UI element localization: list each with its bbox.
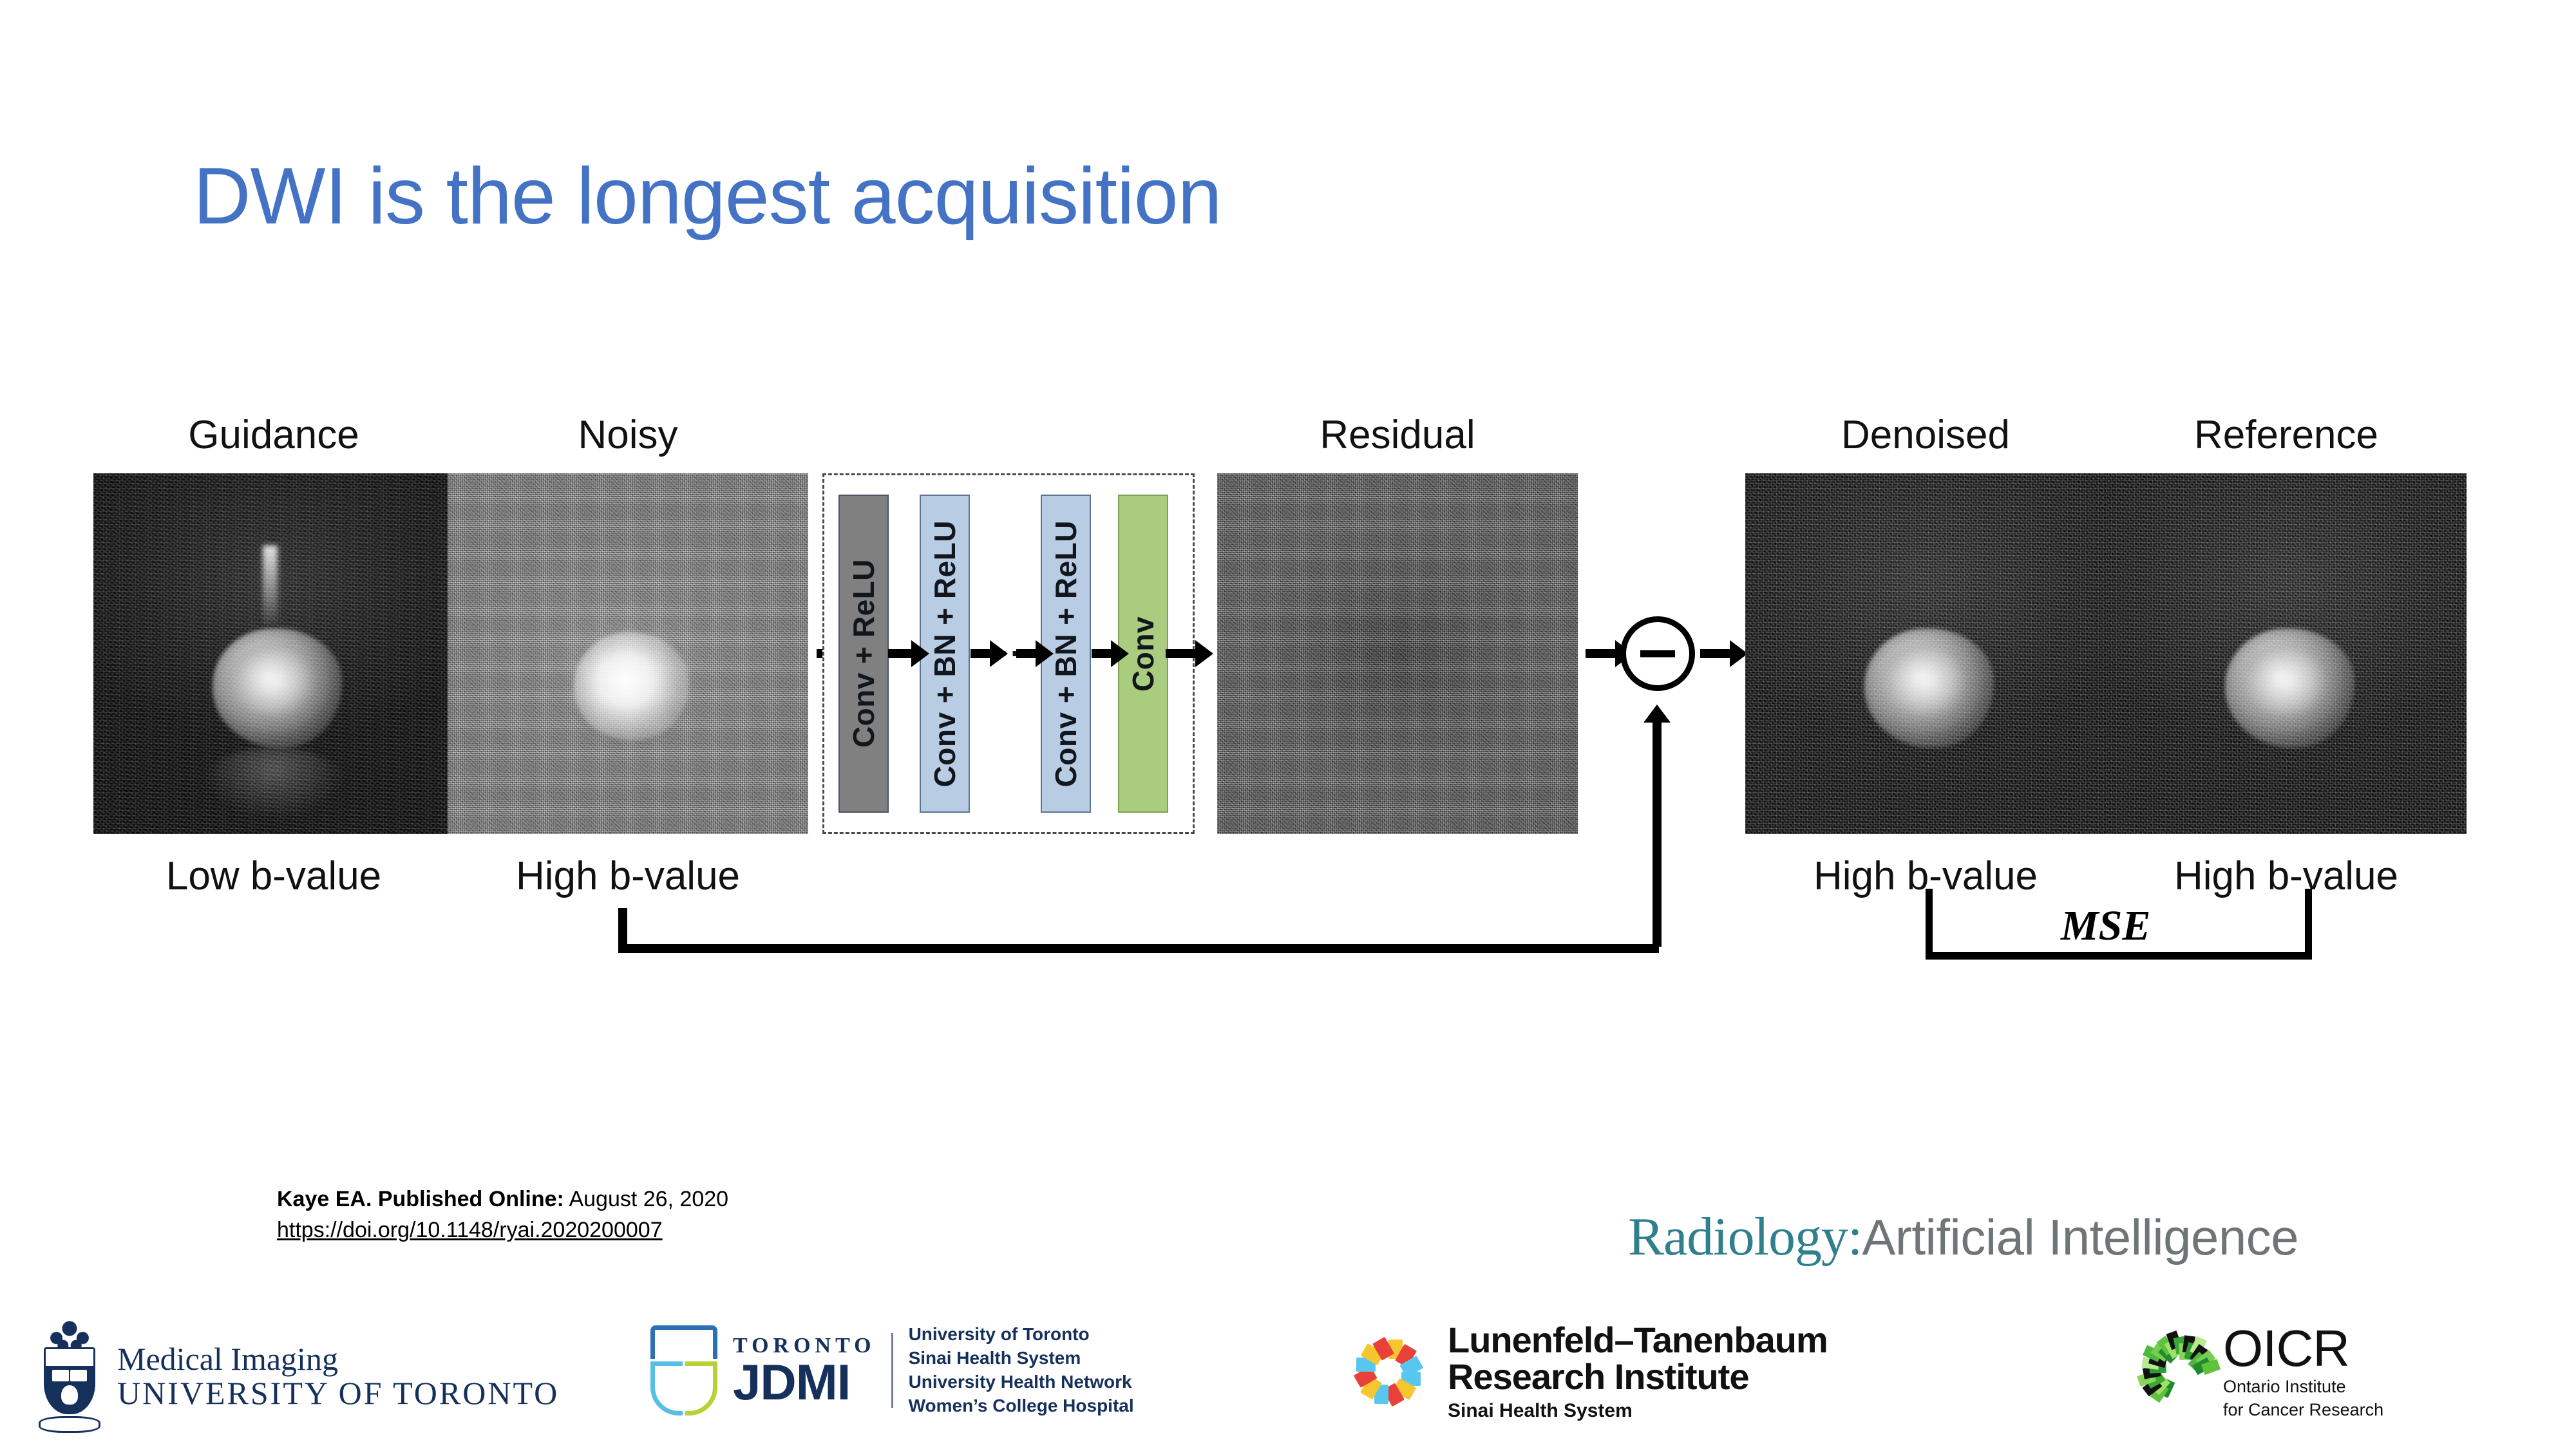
mse-bracket-left [1926,889,1933,960]
mri-image-noisy [448,473,808,834]
cnn-layer-3-label: Conv + BN + ReLU [1048,520,1083,787]
arrow-dots-layer3 [1016,649,1037,658]
mse-bracket-bottom [1926,952,2312,960]
citation-line-1: Kaye EA. Published Online: August 26, 20… [277,1184,728,1215]
ltri-wordmark: Lunenfeld–Tanenbaum Research Institute S… [1448,1321,1828,1422]
arrow-layer2-dots [971,649,991,658]
mse-label: MSE [2061,902,2150,951]
jdmi-affiliation-1: University of Toronto [909,1323,1134,1347]
jdmi-affiliation-4: Women’s College Hospital [909,1394,1134,1418]
mri-image-residual [1217,473,1578,834]
jdmi-shield-icon [650,1325,717,1416]
mse-bracket-right [2305,889,2312,960]
arrow-network-to-residual [1166,649,1197,658]
citation: Kaye EA. Published Online: August 26, 20… [277,1184,728,1246]
panel-label-reference: Reference [2106,412,2467,458]
citation-author-published: Kaye EA. Published Online: [277,1187,564,1211]
figure-pipeline: Guidance Noisy Residual Denoised Referen… [0,399,2576,979]
skip-arrow-into-subtract [1653,721,1662,947]
uoft-crest-icon [39,1320,100,1433]
citation-date: August 26, 2020 [564,1187,728,1211]
slide-canvas: DWI is the longest acquisition Guidance … [0,0,2576,1449]
arrow-subtract-to-denoised [1700,649,1731,658]
oicr-starburst-icon [2132,1324,2228,1421]
minus-icon [1640,650,1675,658]
arrow-layer1-layer2 [888,649,913,658]
uoft-shield-icon [44,1347,95,1414]
cnn-layer-1-label: Conv + ReLU [846,559,881,748]
oicr-line-2: for Cancer Research [2223,1399,2383,1420]
jdmi-affiliations: University of Toronto Sinai Health Syste… [909,1323,1134,1418]
panel-label-guidance: Guidance [93,412,454,458]
mri-image-guidance [93,473,454,834]
jdmi-affiliation-3: University Health Network [909,1370,1134,1394]
logo-oicr: OICR Ontario Institute for Cancer Resear… [2132,1324,2383,1421]
partner-logos: Medical Imaging UNIVERSITY OF TORONTO TO… [0,1307,2576,1449]
uoft-wordmark: Medical Imaging UNIVERSITY OF TORONTO [117,1342,559,1412]
oicr-wordmark: OICR Ontario Institute for Cancer Resear… [2223,1324,2383,1421]
ltri-line-2: Research Institute [1448,1358,1828,1395]
logo-university-of-toronto: Medical Imaging UNIVERSITY OF TORONTO [39,1320,559,1433]
oicr-acronym: OICR [2223,1324,2383,1374]
cnn-layer-1: Conv + ReLU [838,495,889,813]
page-title: DWI is the longest acquisition [193,155,1222,238]
panel-label-noisy: Noisy [448,412,808,458]
ltri-line-3: Sinai Health System [1448,1400,1828,1422]
logo-lunenfeld-tanenbaum: Lunenfeld–Tanenbaum Research Institute S… [1346,1321,1828,1422]
radiology-ai-logo: Radiology:Artificial Intelligence [1628,1206,2298,1268]
cnn-network-block: Conv + ReLU Conv + BN + ReLU ⋮ Conv + BN… [822,473,1195,834]
ltri-line-1: Lunenfeld–Tanenbaum [1448,1321,1828,1358]
ltri-starburst-icon [1346,1329,1431,1414]
mri-image-reference [2106,473,2467,834]
uoft-scroll-icon [39,1416,100,1433]
cnn-layer-4-label: Conv [1126,616,1160,692]
oicr-line-1: Ontario Institute [2223,1376,2383,1397]
uoft-line-2: UNIVERSITY OF TORONTO [117,1376,559,1411]
mri-image-denoised [1745,473,2106,834]
panel-label-denoised: Denoised [1745,412,2106,458]
panel-label-residual: Residual [1217,412,1578,458]
jdmi-affiliation-2: Sinai Health System [909,1347,1134,1370]
citation-doi-link[interactable]: https://doi.org/10.1148/ryai.2020200007 [277,1215,728,1245]
logo-toronto-jdmi: TORONTO JDMI University of Toronto Sinai… [650,1323,1134,1418]
artificial-intelligence-wordmark: Artificial Intelligence [1862,1209,2298,1265]
jdmi-divider [891,1333,893,1408]
arrow-residual-to-subtract [1586,649,1616,658]
panel-sub-guidance: Low b-value [93,853,454,899]
uoft-line-1: Medical Imaging [117,1342,559,1376]
skip-line-horizontal [618,944,1659,953]
jdmi-wordmark: TORONTO JDMI [733,1334,876,1406]
panel-sub-noisy: High b-value [448,853,808,899]
subtract-node [1620,616,1695,691]
arrow-layer3-layer4 [1092,649,1112,658]
uoft-tree-icon [48,1320,91,1350]
cnn-layer-2-label: Conv + BN + ReLU [927,520,962,787]
jdmi-name-label: JDMI [733,1358,876,1406]
radiology-wordmark: Radiology: [1628,1207,1862,1267]
